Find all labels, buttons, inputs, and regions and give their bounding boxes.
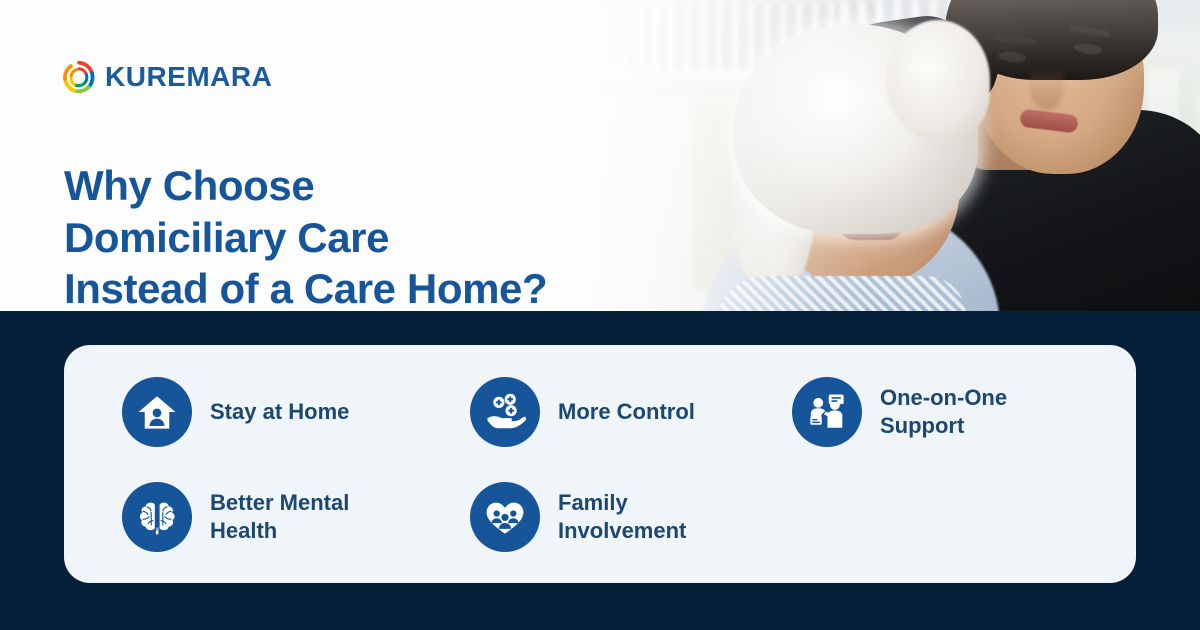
page-title: Why Choose Domiciliary Care Instead of a… — [64, 160, 547, 311]
hero-photograph — [540, 0, 1200, 311]
features-grid: Stay at Home — [64, 345, 1136, 583]
heart-family-icon — [470, 482, 540, 552]
feature-one-on-one-support[interactable]: One-on-One Support — [792, 377, 1136, 447]
kuremara-swirl-icon — [62, 60, 96, 94]
features-card: Stay at Home — [64, 345, 1136, 583]
hand-plus-coins-icon — [470, 377, 540, 447]
brand-name: KUREMARA — [105, 63, 272, 91]
brain-icon — [122, 482, 192, 552]
feature-more-control[interactable]: More Control — [470, 377, 792, 447]
feature-label: Family Involvement — [558, 489, 733, 544]
feature-label: Stay at Home — [210, 398, 349, 426]
feature-family-involvement[interactable]: Family Involvement — [470, 482, 792, 552]
feature-stay-at-home[interactable]: Stay at Home — [122, 377, 470, 447]
brand-logo[interactable]: KUREMARA — [62, 60, 272, 94]
hero-section: KUREMARA Why Choose Domiciliary Care Ins… — [0, 0, 1200, 311]
feature-label: More Control — [558, 398, 695, 426]
headline-line-1: Why Choose — [64, 160, 547, 212]
headline-line-2: Domiciliary Care — [64, 212, 547, 264]
two-people-talking-icon — [792, 377, 862, 447]
feature-label: One-on-One Support — [880, 384, 1090, 439]
home-person-icon — [122, 377, 192, 447]
headline-line-3: Instead of a Care Home? — [64, 263, 547, 311]
promotional-banner: KUREMARA Why Choose Domiciliary Care Ins… — [0, 0, 1200, 630]
feature-better-mental-health[interactable]: Better Mental Health — [122, 482, 470, 552]
feature-label: Better Mental Health — [210, 489, 385, 544]
photo-left-fade — [540, 0, 870, 311]
